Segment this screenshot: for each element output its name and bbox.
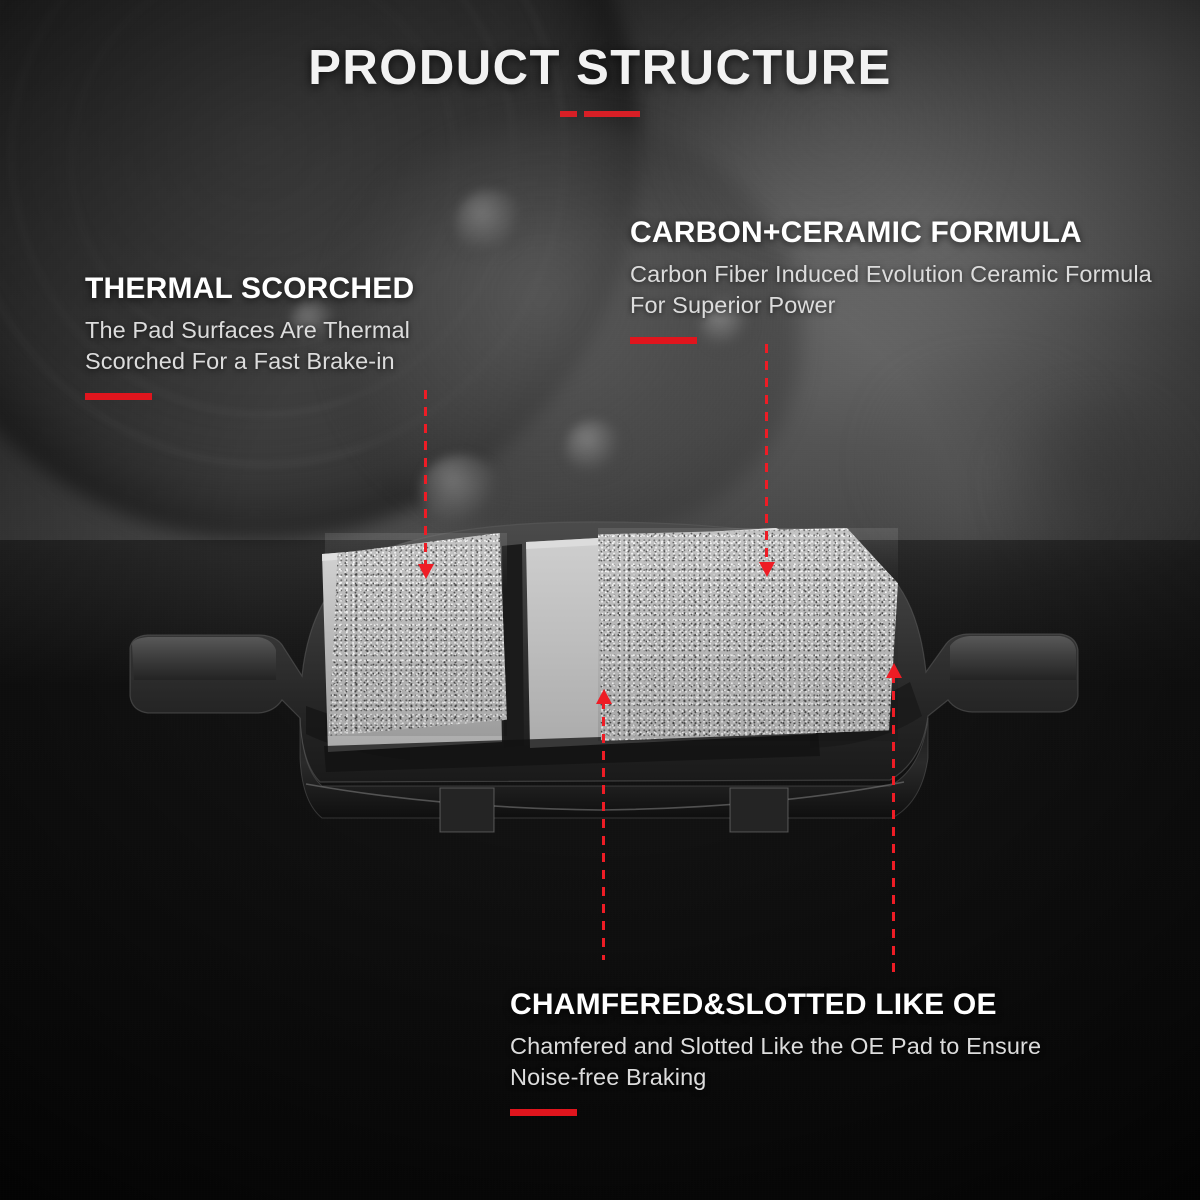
page-title: PRODUCT STRUCTURE	[0, 40, 1200, 96]
callout-accent-bar	[630, 337, 697, 344]
title-accent-rule	[560, 111, 640, 117]
arrow-up-icon	[886, 663, 902, 678]
callout-heading: CARBON+CERAMIC FORMULA	[630, 216, 1170, 249]
dashed-line	[424, 390, 427, 568]
lug-bolt	[455, 190, 525, 256]
retention-tab-right	[730, 788, 788, 832]
callout-heading: CHAMFERED&SLOTTED LIKE OE	[510, 988, 1110, 1021]
dashed-line	[892, 674, 895, 974]
dashed-line	[602, 700, 605, 960]
title-accent-dash-long	[584, 111, 640, 117]
center-slot	[502, 544, 524, 748]
pointer-line-carbon-ceramic	[765, 344, 768, 566]
title-accent-dash-short	[560, 111, 577, 117]
brake-pad-illustration	[110, 520, 1090, 850]
retention-tab-left	[440, 788, 494, 832]
callout-chamfered-slotted-like-oe: CHAMFERED&SLOTTED LIKE OE Chamfered and …	[510, 988, 1110, 1116]
callout-carbon-ceramic-formula: CARBON+CERAMIC FORMULA Carbon Fiber Indu…	[630, 216, 1170, 344]
right-friction-block	[526, 528, 818, 748]
callout-thermal-scorched: THERMAL SCORCHED The Pad Surfaces Are Th…	[85, 272, 505, 400]
lug-bolt	[420, 455, 502, 525]
product-structure-infographic: PRODUCT STRUCTURE THERMAL SCORCHED The P…	[0, 0, 1200, 1200]
lug-bolt	[565, 420, 623, 476]
pointer-line-center-slot	[602, 700, 605, 960]
callout-heading: THERMAL SCORCHED	[85, 272, 505, 305]
right-mounting-ear	[950, 636, 1076, 680]
left-friction-block	[322, 540, 502, 752]
left-mounting-ear	[132, 637, 276, 680]
pointer-line-thermal-scorched	[424, 390, 427, 568]
brake-pad-product-image	[110, 520, 1090, 850]
arrow-down-icon	[418, 564, 434, 579]
pointer-line-chamfered-edge	[892, 674, 895, 974]
callout-body: Chamfered and Slotted Like the OE Pad to…	[510, 1031, 1110, 1093]
callout-body: Carbon Fiber Induced Evolution Ceramic F…	[630, 259, 1170, 321]
callout-accent-bar	[510, 1109, 577, 1116]
callout-body: The Pad Surfaces Are Thermal Scorched Fo…	[85, 315, 505, 377]
callout-accent-bar	[85, 393, 152, 400]
dashed-line	[765, 344, 768, 566]
arrow-up-icon	[596, 689, 612, 704]
arrow-down-icon	[759, 562, 775, 577]
